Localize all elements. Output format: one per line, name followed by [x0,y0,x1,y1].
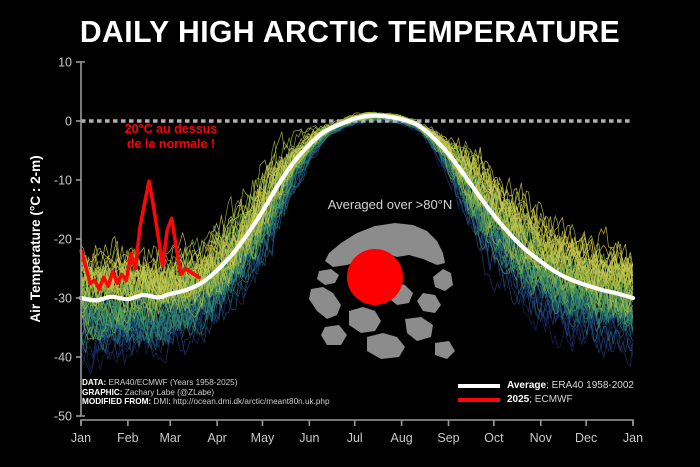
y-axis-ticks: 100-10-20-30-40-50 [54,56,81,424]
annotation-french-note: 20°C au dessus de la normale ! [96,122,246,152]
y-axis-tick-label: 10 [58,56,72,70]
chart-legend: Average; ERA40 1958-20022025; ECMWF [458,379,634,407]
y-axis-tick-label: -30 [54,292,72,306]
credits-source-row: MODIFIED FROM: DMI: http://ocean.dmi.dk/… [82,397,330,407]
y-axis-tick-label: -50 [54,410,72,424]
x-axis-tick-label: Apr [207,431,226,445]
y-axis-title: Air Temperature (°C : 2-m) [28,155,43,322]
y-axis-tick-label: -10 [54,174,72,188]
x-axis-tick-label: Jan [71,431,91,445]
credits-block: DATA: ERA40/ECMWF (Years 1958-2025) GRAP… [82,378,330,407]
x-axis-tick-label: Nov [530,431,553,445]
legend-item: 2025; ECMWF [458,393,634,407]
credits-data-label: DATA: [82,378,106,387]
y-axis-tick-label: -40 [54,351,72,365]
chart-root: DAILY HIGH ARCTIC TEMPERATURE 100-10-20-… [0,0,700,467]
credits-graphic-label: GRAPHIC: [82,388,122,397]
legend-label-detail: ; ERA40 1958-2002 [546,380,634,391]
polar-map-inset [305,215,457,363]
legend-label-name: Average [507,380,546,391]
annotation-line-1: 20°C au dessus [96,122,246,137]
legend-item: Average; ERA40 1958-2002 [458,379,634,393]
credits-data-value: ERA40/ECMWF (Years 1958-2025) [106,378,237,387]
x-axis-tick-label: Jan [623,431,643,445]
legend-swatch [458,398,500,402]
x-axis-tick-label: Sep [437,431,459,445]
region-marker-circle [347,249,403,305]
annotation-line-2: de la normale ! [96,137,246,152]
legend-label-name: 2025 [507,394,529,405]
legend-label: Average; ERA40 1958-2002 [507,379,634,393]
svg-text:Air Temperature (°C : 2-m): Air Temperature (°C : 2-m) [28,155,43,322]
y-axis-tick-label: 0 [65,115,72,129]
legend-label: 2025; ECMWF [507,393,573,407]
x-axis-ticks: JanFebMarAprMayJunJulAugSepOctNovDecJan [71,420,643,445]
legend-label-detail: ; ECMWF [529,394,572,405]
credits-graphic-value: Zachary Labe (@ZLabe) [122,388,214,397]
credits-source-label: MODIFIED FROM: [82,397,151,406]
credits-graphic-row: GRAPHIC: Zachary Labe (@ZLabe) [82,388,330,398]
x-axis-tick-label: Jul [347,431,363,445]
x-axis-tick-label: May [251,431,275,445]
legend-swatch [458,384,500,388]
credits-source-value: DMI: http://ocean.dmi.dk/arctic/meant80n… [151,397,329,406]
x-axis-tick-label: Oct [484,431,504,445]
annotation-region-note: Averaged over >80°N [300,197,480,212]
credits-data-row: DATA: ERA40/ECMWF (Years 1958-2025) [82,378,330,388]
x-axis-tick-label: Dec [575,431,597,445]
x-axis-tick-label: Feb [117,431,139,445]
x-axis-tick-label: Aug [390,431,412,445]
y-axis-tick-label: -20 [54,233,72,247]
x-axis-tick-label: Mar [159,431,181,445]
x-axis-tick-label: Jun [299,431,319,445]
